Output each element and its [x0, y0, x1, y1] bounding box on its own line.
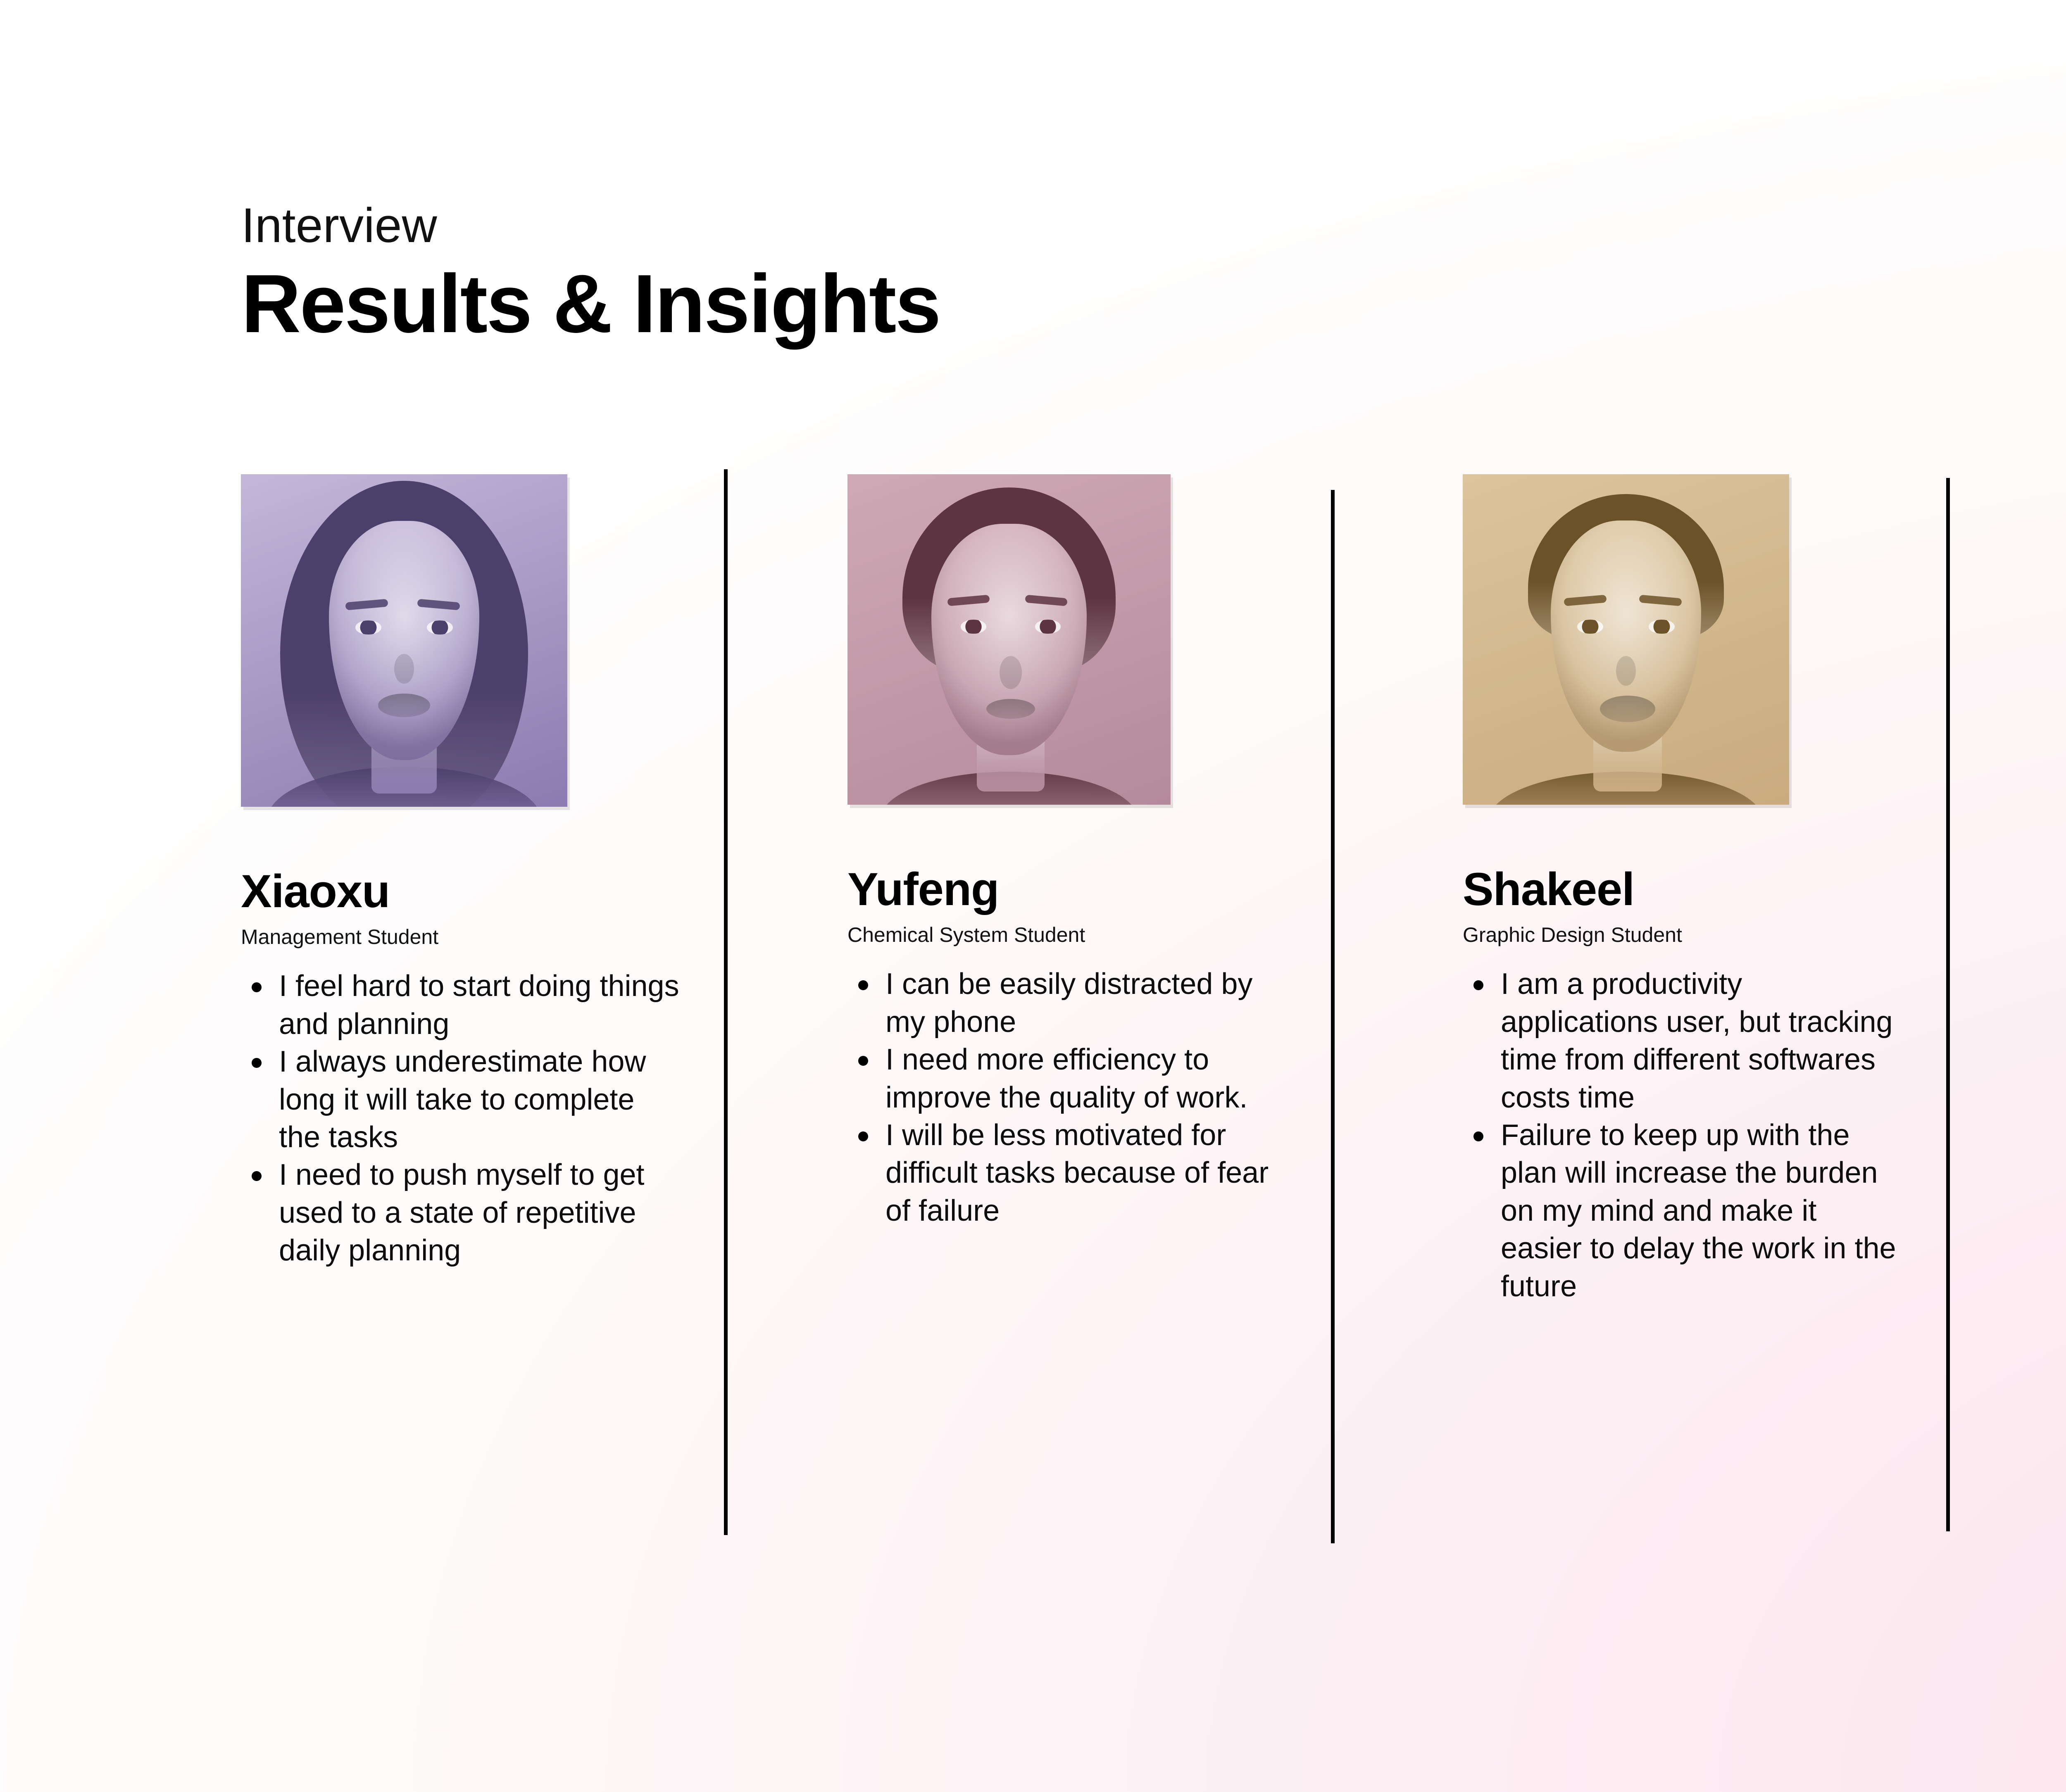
- eye-shape: [1577, 620, 1603, 634]
- persona-insight-list: I can be easily distracted by my phone I…: [847, 965, 1290, 1230]
- portrait-shakeel: [1463, 474, 1789, 805]
- nose-shape: [1616, 656, 1635, 686]
- persona-columns: Xiaoxu Management Student I feel hard to…: [0, 474, 2066, 1590]
- list-item: I can be easily distracted by my phone: [847, 965, 1290, 1041]
- list-item: I always underestimate how long it will …: [241, 1043, 683, 1156]
- slide-canvas: Interview Results & Insights Xiaoxu Mana…: [0, 0, 2066, 1792]
- column-divider-3: [1946, 478, 1950, 1531]
- persona-card-shakeel: Shakeel Graphic Design Student I am a pr…: [1463, 474, 1911, 1305]
- portrait-yufeng: [847, 474, 1171, 805]
- persona-name: Shakeel: [1463, 866, 1911, 913]
- mouth-shape: [1600, 696, 1655, 722]
- eye-shape: [355, 620, 381, 635]
- list-item: I need to push myself to get used to a s…: [241, 1156, 683, 1269]
- mouth-shape: [378, 694, 430, 717]
- eye-shape: [427, 620, 453, 635]
- column-divider-1: [724, 469, 728, 1535]
- persona-name: Xiaoxu: [241, 868, 689, 915]
- persona-role: Management Student: [241, 926, 689, 948]
- eyebrow-label: Interview: [241, 198, 1646, 253]
- nose-shape: [394, 654, 414, 684]
- page-title: Results & Insights: [241, 259, 1646, 349]
- eye-shape: [1649, 620, 1675, 634]
- persona-role: Chemical System Student: [847, 924, 1296, 946]
- portrait-xiaoxu: [241, 474, 567, 807]
- persona-insight-list: I feel hard to start doing things and pl…: [241, 967, 683, 1270]
- persona-insight-list: I am a productivity applications user, b…: [1463, 965, 1905, 1305]
- slide-header: Interview Results & Insights: [241, 198, 1646, 349]
- eye-shape: [961, 620, 987, 634]
- nose-shape: [1000, 656, 1022, 689]
- persona-role: Graphic Design Student: [1463, 924, 1911, 946]
- mouth-shape: [986, 699, 1035, 719]
- persona-name: Yufeng: [847, 866, 1296, 913]
- list-item: I will be less motivated for difficult t…: [847, 1117, 1290, 1230]
- list-item: I am a productivity applications user, b…: [1463, 965, 1905, 1117]
- list-item: Failure to keep up with the plan will in…: [1463, 1117, 1905, 1305]
- list-item: I feel hard to start doing things and pl…: [241, 967, 683, 1043]
- eye-shape: [1035, 620, 1061, 634]
- persona-card-yufeng: Yufeng Chemical System Student I can be …: [847, 474, 1296, 1230]
- list-item: I need more efficiency to improve the qu…: [847, 1041, 1290, 1117]
- persona-card-xiaoxu: Xiaoxu Management Student I feel hard to…: [241, 474, 689, 1270]
- column-divider-2: [1331, 490, 1335, 1543]
